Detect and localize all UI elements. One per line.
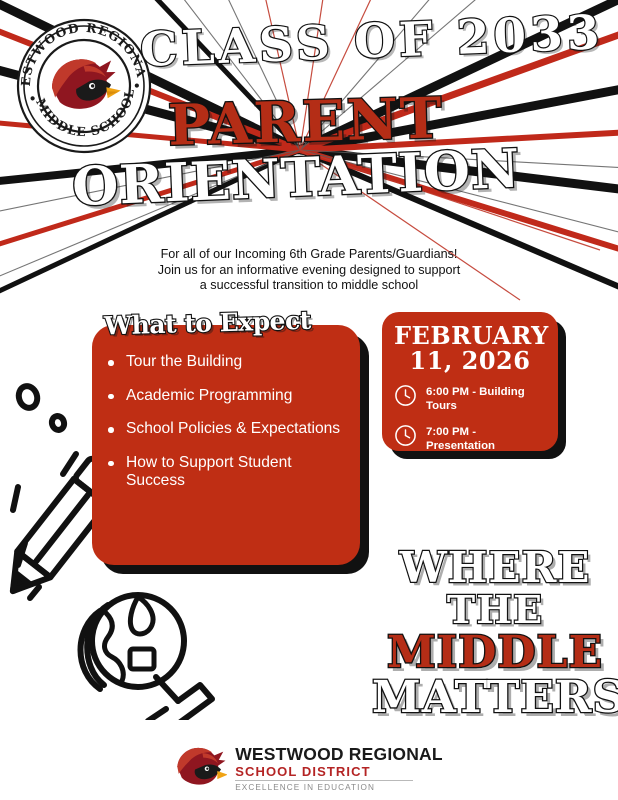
tagline-word-matters: MATTERS <box>372 677 618 719</box>
list-item: How to Support Student Success <box>104 454 346 491</box>
event-date-panel: FEBRUARY 11, 2026 6:00 PM - Building Tou… <box>382 312 558 451</box>
tagline-block: WHERE THE MIDDLE MATTERS <box>372 548 618 719</box>
intro-line-1: For all of our Incoming 6th Grade Parent… <box>60 247 558 263</box>
footer-district-logo: WESTWOOD REGIONAL SCHOOL DISTRICT EXCELL… <box>0 736 618 800</box>
intro-paragraph: For all of our Incoming 6th Grade Parent… <box>60 247 558 294</box>
event-date-line-2: 11, 2026 <box>394 348 546 373</box>
headline-orientation: ORIENTATION <box>71 139 613 215</box>
event-time-1: 6:00 PM - Building Tours <box>426 384 546 413</box>
footer-divider <box>235 780 413 781</box>
event-time-row-2: 7:00 PM - Presentation <box>394 424 546 453</box>
cardinal-head-icon <box>175 745 227 791</box>
headline-class-of: CLASS OF 2033 <box>139 9 610 74</box>
event-time-row-1: 6:00 PM - Building Tours <box>394 384 546 413</box>
list-item: School Policies & Expectations <box>104 420 346 439</box>
what-to-expect-list: Tour the Building Academic Programming S… <box>92 353 360 506</box>
footer-district-subtitle: SCHOOL DISTRICT <box>235 764 443 779</box>
intro-line-2: Join us for an informative evening desig… <box>60 263 558 279</box>
clock-icon <box>394 424 417 447</box>
tagline-word-where: WHERE <box>372 548 618 588</box>
footer-text-block: WESTWOOD REGIONAL SCHOOL DISTRICT EXCELL… <box>235 743 443 793</box>
footer-tagline: EXCELLENCE IN EDUCATION <box>235 783 443 793</box>
headline-block: CLASS OF 2033 PARENT ORIENTATION <box>0 0 618 240</box>
list-item: Tour the Building <box>104 353 346 372</box>
event-time-2: 7:00 PM - Presentation <box>426 424 546 453</box>
what-to-expect-panel: Tour the Building Academic Programming S… <box>92 325 360 565</box>
tagline-word-middle: MIDDLE <box>372 632 618 674</box>
flyer-page: WESTWOOD REGIONAL MIDDLE SCHOOL CLASS OF… <box>0 0 618 800</box>
footer-district-name: WESTWOOD REGIONAL <box>235 745 443 764</box>
clock-icon <box>394 384 417 407</box>
tagline-word-the: THE <box>372 592 618 628</box>
event-date: FEBRUARY 11, 2026 <box>394 323 546 373</box>
list-item: Academic Programming <box>104 387 346 406</box>
intro-line-3: a successful transition to middle school <box>60 278 558 294</box>
